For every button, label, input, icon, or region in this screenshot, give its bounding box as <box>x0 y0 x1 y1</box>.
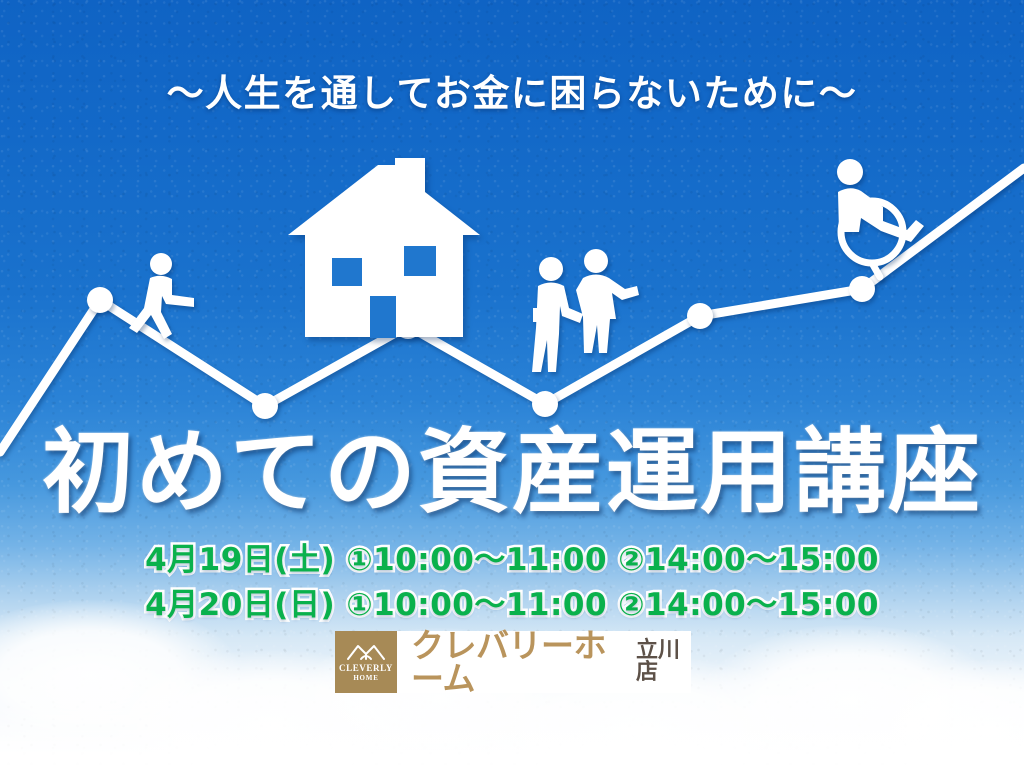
chart-nodes <box>87 276 875 419</box>
logo-wordmark: クレバリーホーム 立川店 <box>397 629 691 695</box>
walking-person-icon <box>129 253 194 339</box>
poster-canvas: 〜人生を通してお金に困らないために〜 初めての資産運用講座 4月19日(土) ①… <box>0 0 1024 768</box>
chart-node <box>849 276 875 302</box>
chart-node <box>87 287 113 313</box>
chart-node <box>532 391 558 417</box>
cleverly-home-logo-mark: CLEVERLY HOME <box>335 631 397 693</box>
house-roof-icon <box>345 641 387 661</box>
chart-node <box>687 303 713 329</box>
company-logo[interactable]: CLEVERLY HOME クレバリーホーム 立川店 <box>335 631 691 693</box>
logo-brand-name: クレバリーホーム <box>411 629 627 695</box>
logo-mark-line1: CLEVERLY <box>339 663 393 674</box>
logo-branch-name: 立川店 <box>636 640 691 684</box>
couple-icon <box>532 249 639 372</box>
schedule-line-1: 4月19日(土) ①10:00〜11:00 ②14:00〜15:00 <box>0 538 1024 583</box>
logo-mark-line2: HOME <box>353 674 378 683</box>
page-tagline: 〜人生を通してお金に困らないために〜 <box>0 74 1024 115</box>
page-title: 初めての資産運用講座 <box>0 425 1024 521</box>
schedule-block: 4月19日(土) ①10:00〜11:00 ②14:00〜15:00 4月20日… <box>0 538 1024 628</box>
house-icon <box>288 158 480 338</box>
schedule-line-2: 4月20日(日) ①10:00〜11:00 ②14:00〜15:00 <box>0 583 1024 628</box>
wheelchair-person-icon <box>837 159 924 277</box>
chart-node <box>252 393 278 419</box>
